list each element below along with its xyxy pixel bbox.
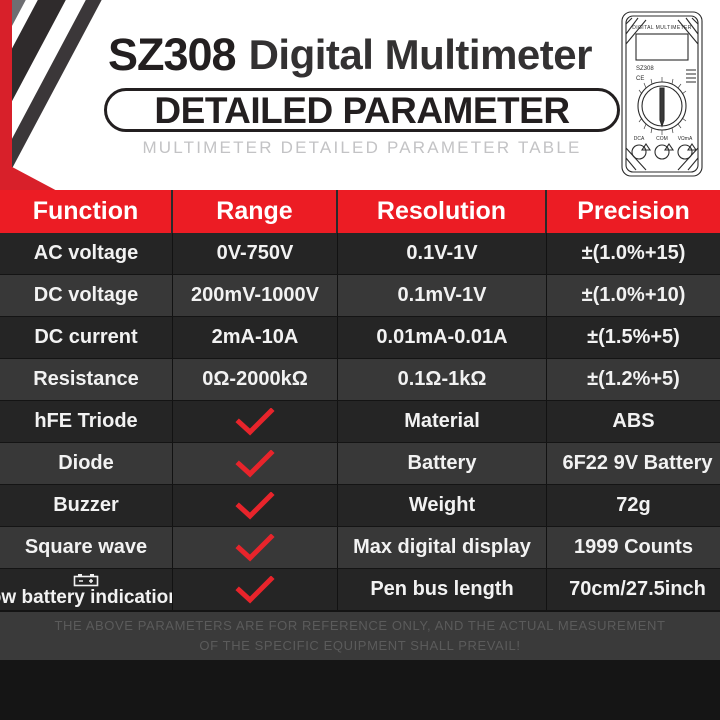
table-row: hFE Triode Material ABS (0, 401, 720, 443)
cell-function: DC voltage (0, 275, 173, 316)
checkmark-icon (235, 492, 275, 520)
cell-function: Resistance (0, 359, 173, 400)
cell-function: Buzzer (0, 485, 173, 526)
cell-function: Square wave (0, 527, 173, 568)
header-banner: SZ308 Digital Multimeter DETAILED PARAME… (0, 0, 720, 190)
cell-precision: 70cm/27.5inch (547, 569, 720, 610)
product-spec-page: SZ308 Digital Multimeter DETAILED PARAME… (0, 0, 720, 720)
cell-precision: 6F22 9V Battery (547, 443, 720, 484)
disclaimer-line-1: THE ABOVE PARAMETERS ARE FOR REFERENCE O… (54, 616, 665, 636)
cell-function: Low battery indication (0, 569, 173, 610)
device-jack-com: COM (656, 136, 668, 142)
cell-precision: ±(1.2%+5) (547, 359, 720, 400)
cell-resolution: Battery (338, 443, 547, 484)
cell-range-check (173, 401, 338, 442)
cell-range: 0V-750V (173, 233, 338, 274)
cell-resolution: Material (338, 401, 547, 442)
table-row: AC voltage 0V-750V 0.1V-1V ±(1.0%+15) (0, 233, 720, 275)
product-name: Digital Multimeter (249, 31, 592, 79)
cell-range: 2mA-10A (173, 317, 338, 358)
cell-function: Diode (0, 443, 173, 484)
product-model: SZ308 (108, 29, 236, 81)
cell-resolution: 0.01mA-0.01A (338, 317, 547, 358)
page-subtitle: MULTIMETER DETAILED PARAMETER TABLE (104, 138, 620, 158)
table-row: DC voltage 200mV-1000V 0.1mV-1V ±(1.0%+1… (0, 275, 720, 317)
cell-function: hFE Triode (0, 401, 173, 442)
cell-range-check (173, 527, 338, 568)
cell-resolution: Pen bus length (338, 569, 547, 610)
cell-range-check (173, 569, 338, 610)
table-row: DC current 2mA-10A 0.01mA-0.01A ±(1.5%+5… (0, 317, 720, 359)
column-header-function: Function (0, 190, 173, 233)
cell-resolution: Max digital display (338, 527, 547, 568)
cell-range-check (173, 443, 338, 484)
cell-precision: ±(1.0%+10) (547, 275, 720, 316)
detailed-parameter-badge: DETAILED PARAMETER (104, 88, 620, 132)
cell-resolution: Weight (338, 485, 547, 526)
checkmark-icon (235, 450, 275, 478)
detailed-parameter-label: DETAILED PARAMETER (154, 92, 569, 129)
disclaimer-line-2: OF THE SPECIFIC EQUIPMENT SHALL PREVAIL! (199, 636, 520, 656)
cell-function: DC current (0, 317, 173, 358)
cell-range: 0Ω-2000kΩ (173, 359, 338, 400)
cell-precision: 72g (547, 485, 720, 526)
table-row: Diode Battery 6F22 9V Battery (0, 443, 720, 485)
device-jack-vohm: VΩmA (678, 136, 693, 142)
column-header-precision: Precision (547, 190, 720, 233)
table-row: Low battery indication Pen bus length 70… (0, 569, 720, 611)
disclaimer-footer: THE ABOVE PARAMETERS ARE FOR REFERENCE O… (0, 612, 720, 660)
device-cert-mark: CE (636, 76, 644, 82)
cell-precision: ±(1.0%+15) (547, 233, 720, 274)
table-row: Buzzer Weight 72g (0, 485, 720, 527)
cell-range-check (173, 485, 338, 526)
cell-precision: ±(1.5%+5) (547, 317, 720, 358)
checkmark-icon (235, 534, 275, 562)
column-header-resolution: Resolution (338, 190, 547, 233)
checkmark-icon (235, 408, 275, 436)
cell-resolution: 0.1mV-1V (338, 275, 547, 316)
cell-range: 200mV-1000V (173, 275, 338, 316)
cell-resolution: 0.1V-1V (338, 233, 547, 274)
table-row: Resistance 0Ω-2000kΩ 0.1Ω-1kΩ ±(1.2%+5) (0, 359, 720, 401)
table-header-row: Function Range Resolution Precision (0, 190, 720, 233)
battery-icon (73, 573, 99, 587)
device-jack-dca: DCA (634, 136, 645, 142)
cell-function: AC voltage (0, 233, 173, 274)
device-model-mark: SZ308 (636, 66, 654, 72)
cell-resolution: 0.1Ω-1kΩ (338, 359, 547, 400)
parameter-table: Function Range Resolution Precision AC v… (0, 190, 720, 611)
column-header-range: Range (173, 190, 338, 233)
multimeter-illustration: DIGITAL MULTIMETER SZ308 CE DCA COM VΩmA (616, 8, 708, 180)
table-row: Square wave Max digital display 1999 Cou… (0, 527, 720, 569)
cell-precision: 1999 Counts (547, 527, 720, 568)
device-screen-label: DIGITAL MULTIMETER (632, 25, 692, 31)
bottom-background (0, 660, 720, 720)
cell-precision: ABS (547, 401, 720, 442)
page-title: SZ308 Digital Multimeter (108, 29, 628, 81)
checkmark-icon (235, 576, 275, 604)
